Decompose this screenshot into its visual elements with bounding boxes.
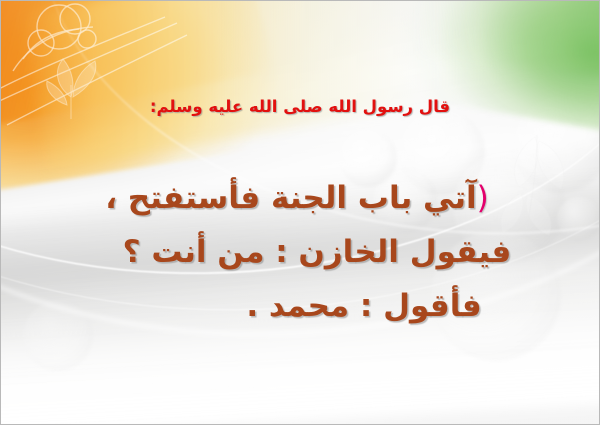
hadith-line-2: فيقول الخازن : من أنت ؟ [19, 237, 581, 268]
hadith-line-1: (آتي باب الجنة فأستفتح ، [19, 183, 581, 214]
hadith-line-1-text: آتي باب الجنة فأستفتح ، [105, 180, 476, 216]
floral-swirl-ornament [1, 1, 251, 141]
hadith-card: قال رسول الله صلى الله عليه وسلم: (آتي ب… [0, 0, 600, 425]
hadith-line-3: فأقول : محمد . [19, 291, 581, 322]
hadith-body: (آتي باب الجنة فأستفتح ، فيقول الخازن : … [19, 183, 581, 322]
open-paren: ( [477, 180, 489, 216]
page-title: قال رسول الله صلى الله عليه وسلم: [1, 97, 599, 116]
bokeh-circle [339, 129, 397, 187]
